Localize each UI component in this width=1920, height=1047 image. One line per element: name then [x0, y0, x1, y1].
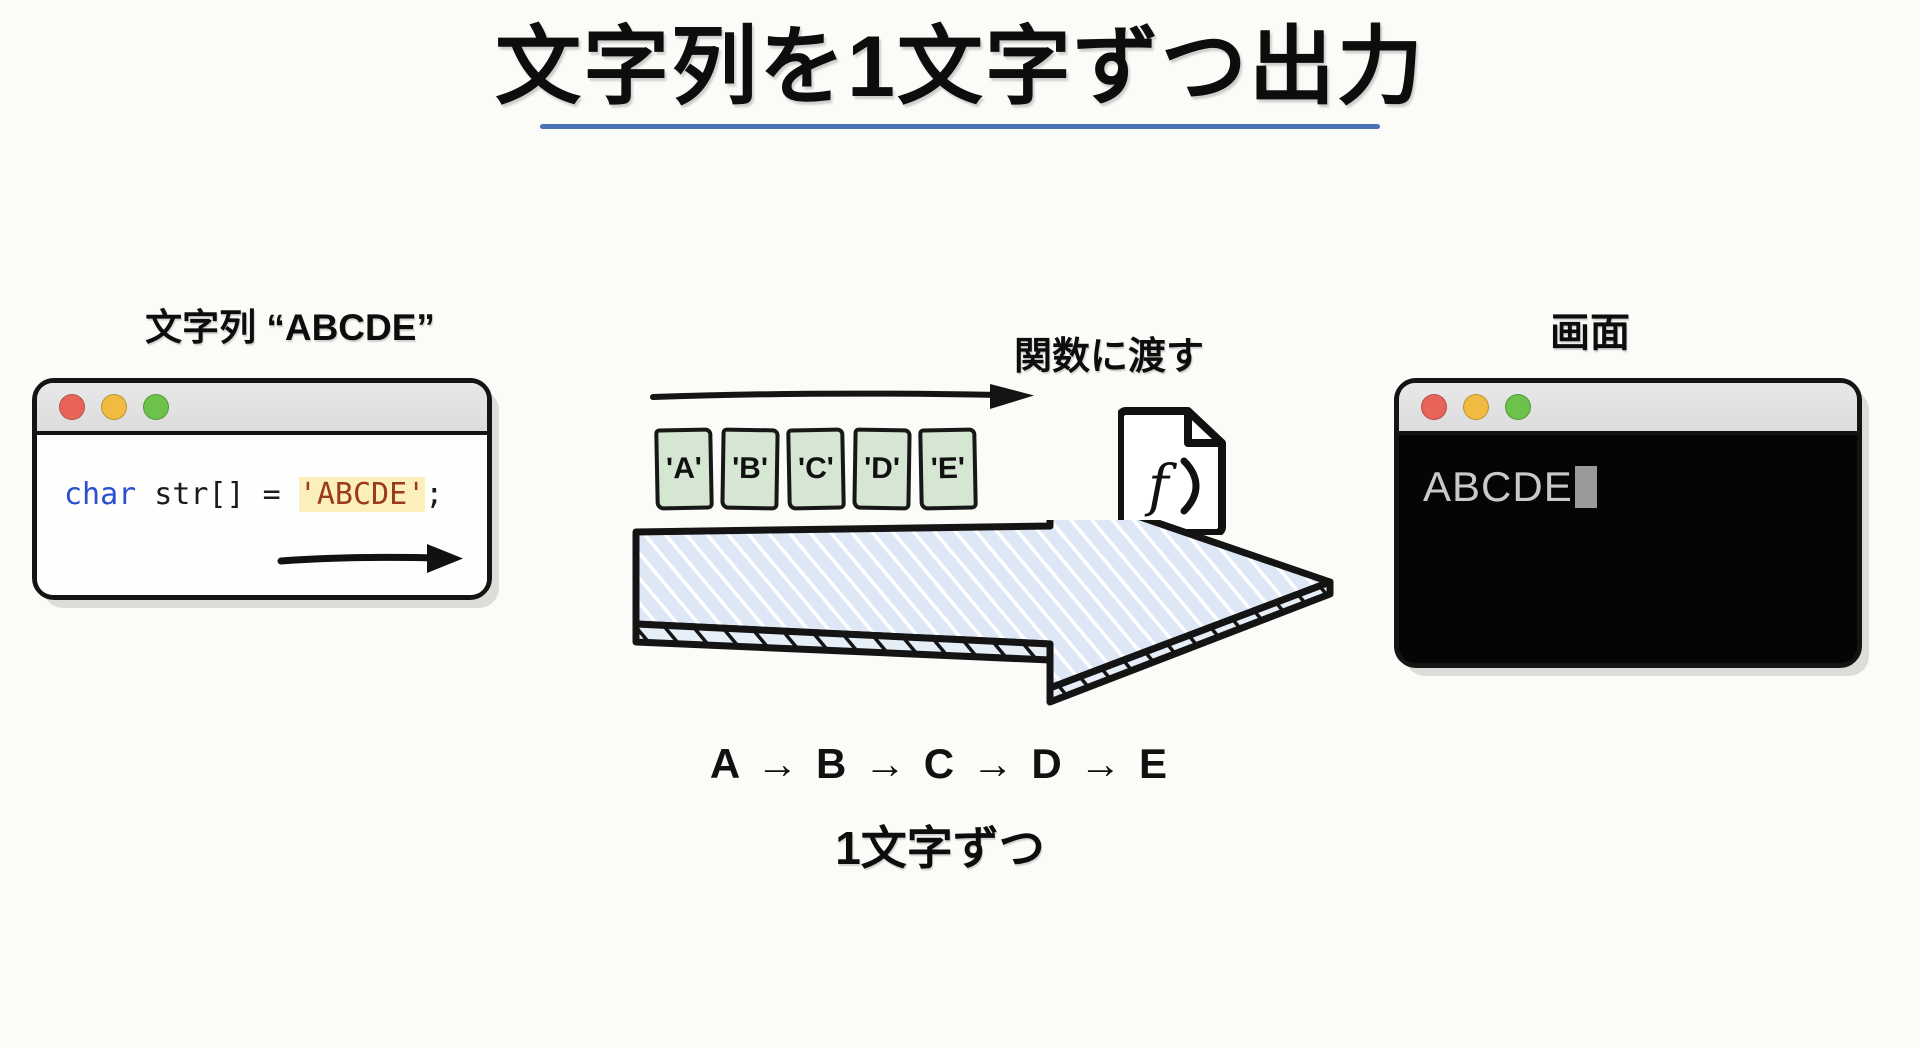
character-tiles-row: 'A' 'B' 'C' 'D' 'E' [655, 428, 977, 510]
title-underline [540, 124, 1380, 129]
screen-window-body: ABCDE [1399, 435, 1857, 663]
thin-right-arrow-icon [650, 382, 1050, 416]
code-window-body: char str[] = 'ABCDE'; [37, 435, 487, 595]
maximize-dot-icon[interactable] [143, 394, 169, 420]
code-identifier: str[] [136, 477, 244, 512]
char-tile: 'A' [654, 427, 714, 510]
close-dot-icon[interactable] [1421, 394, 1447, 420]
function-file-icon: f [1118, 403, 1230, 535]
pass-to-function-label: 関数に渡す [1014, 325, 1204, 380]
char-tile: 'C' [786, 427, 846, 510]
one-char-text: 1文字ずつ [630, 812, 1250, 878]
close-dot-icon[interactable] [59, 394, 85, 420]
screen-window-titlebar [1399, 383, 1857, 435]
code-terminator: ; [425, 477, 443, 512]
screen-panel-caption: 画面 [1380, 300, 1800, 358]
maximize-dot-icon[interactable] [1505, 394, 1531, 420]
big-hatched-right-arrow-icon [630, 520, 1350, 720]
code-panel-caption: 文字列 “ABCDE” [90, 297, 490, 351]
right-arrow-icon [277, 539, 477, 579]
page-title: 文字列を1文字ずつ出力 [0, 22, 1920, 112]
char-tile: 'B' [720, 428, 779, 511]
terminal-output-line: ABCDE [1423, 463, 1857, 511]
title-block: 文字列を1文字ずつ出力 [0, 22, 1920, 129]
minimize-dot-icon[interactable] [101, 394, 127, 420]
code-window-titlebar [37, 383, 487, 435]
code-line: char str[] = 'ABCDE'; [64, 477, 443, 512]
sequence-text: A → B → C → D → E [630, 740, 1250, 788]
char-tile: 'E' [918, 427, 978, 510]
char-tile: 'D' [852, 428, 911, 511]
minimize-dot-icon[interactable] [1463, 394, 1489, 420]
terminal-output-text: ABCDE [1423, 463, 1573, 511]
terminal-cursor [1575, 466, 1597, 508]
screen-window: ABCDE [1394, 378, 1862, 668]
code-window: char str[] = 'ABCDE'; [32, 378, 492, 600]
code-keyword: char [64, 477, 136, 512]
code-string-literal: 'ABCDE' [299, 477, 425, 512]
code-operator: = [245, 477, 299, 512]
